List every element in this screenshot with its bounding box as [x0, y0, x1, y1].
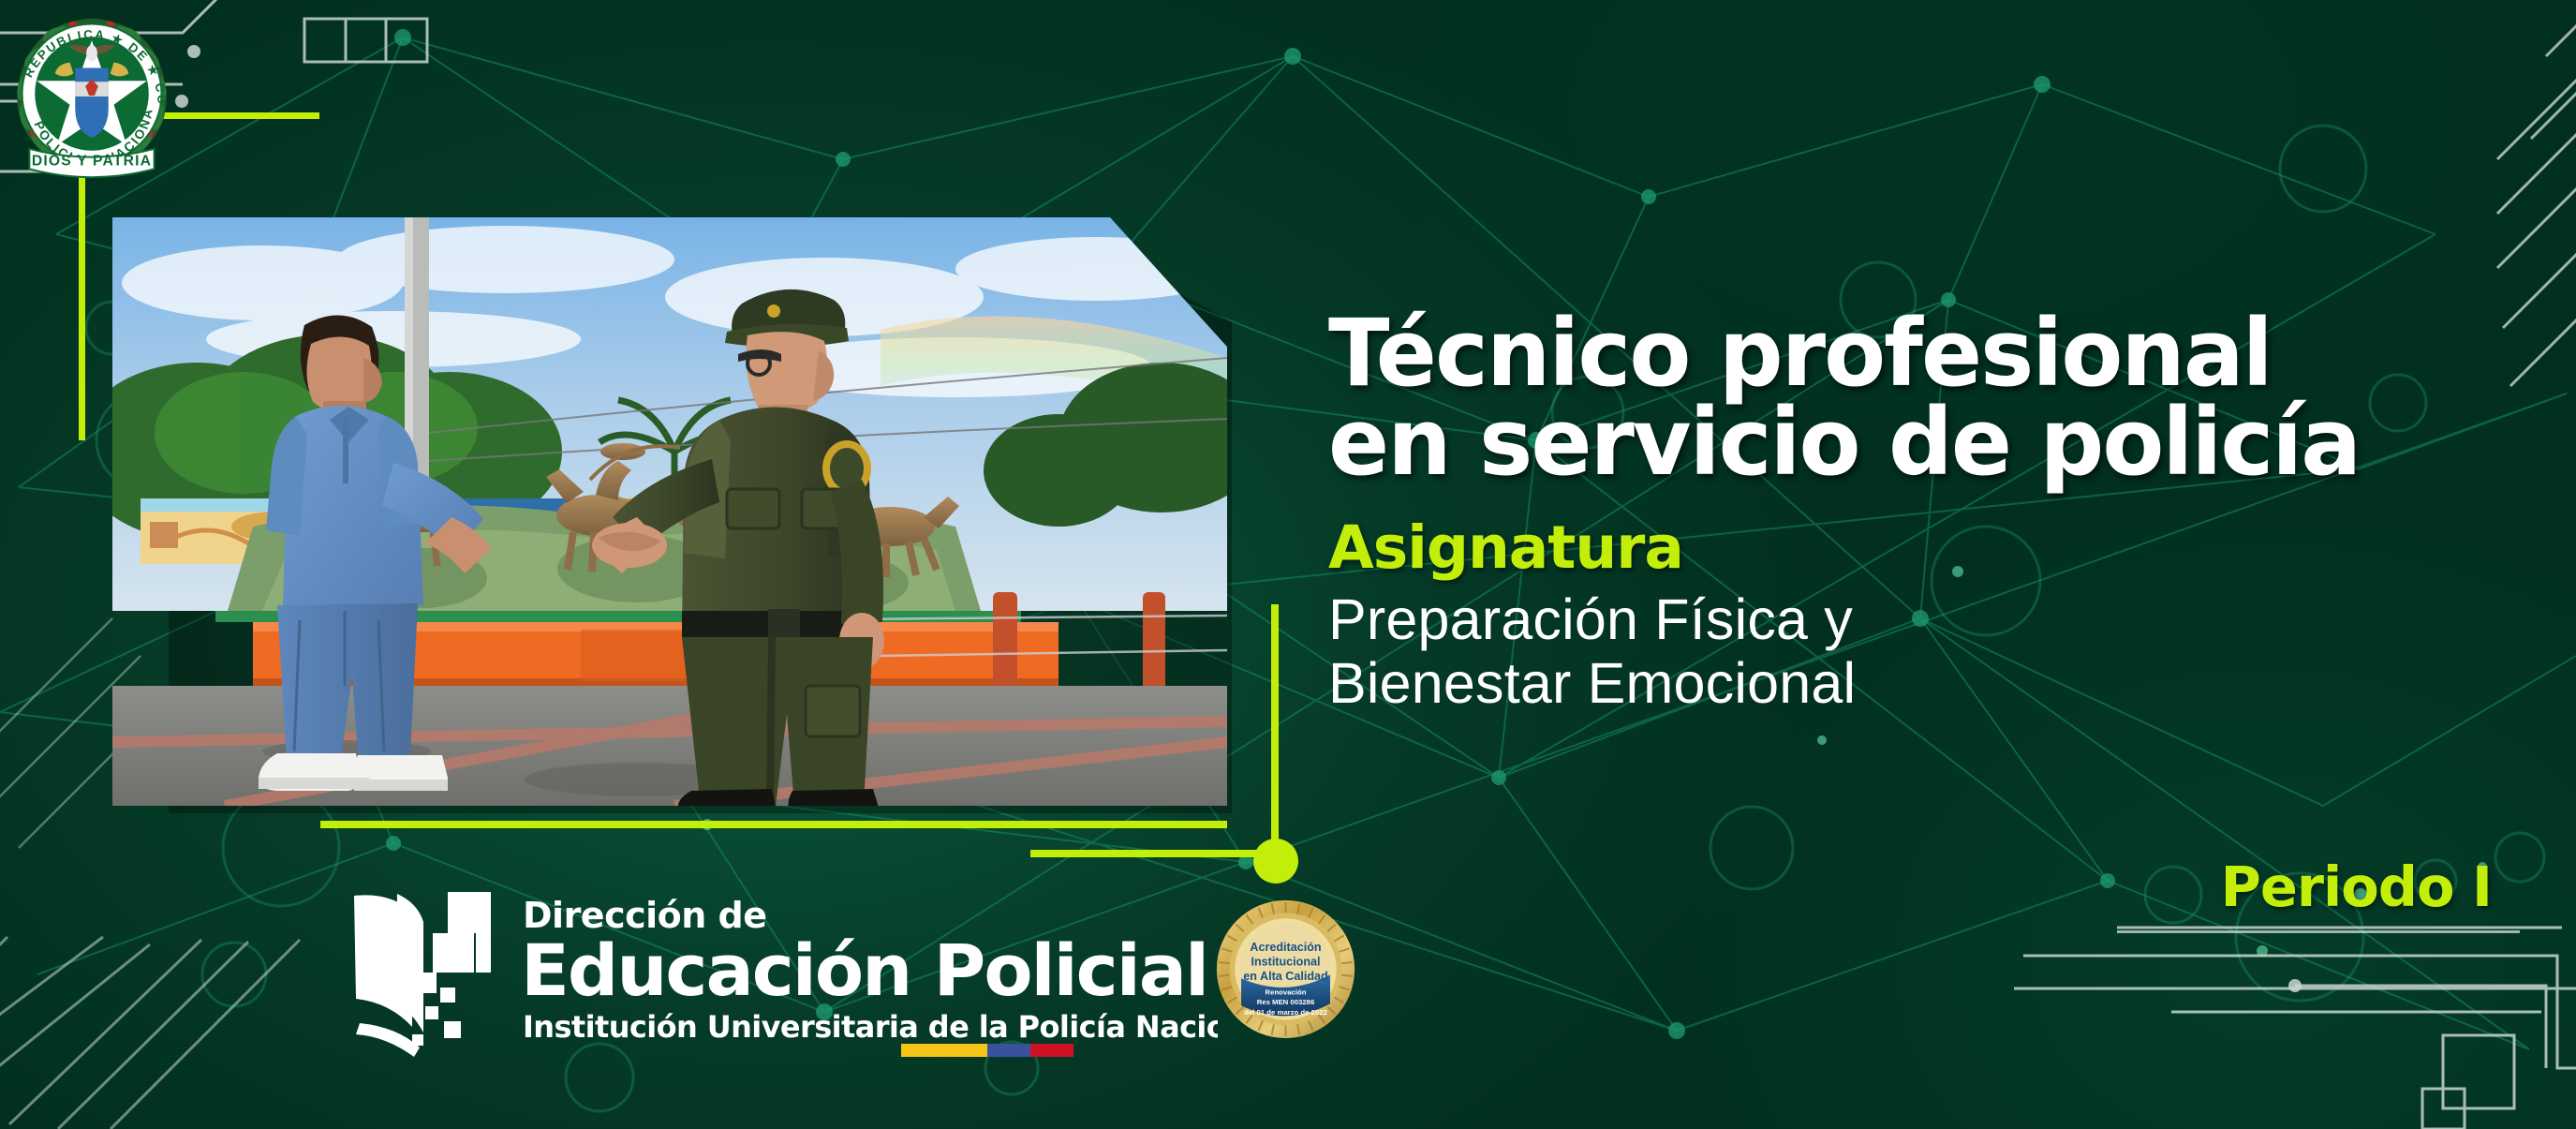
seal-line2: Institucional — [1251, 956, 1320, 969]
hero-photo — [112, 217, 1227, 806]
subject-name: Preparación Física y Bienestar Emocional — [1328, 587, 2471, 716]
police-shield-svg: REPUBLICA ★ DE ★ COLOMBIA POLICIA ★ NACI… — [0, 2, 184, 186]
program-title-line2: en servicio de policía — [1328, 398, 2436, 487]
program-title-line1: Técnico profesional — [1328, 309, 2436, 398]
svg-text:DIOS Y PATRIA: DIOS Y PATRIA — [32, 153, 152, 169]
accreditation-seal: Acreditación Institucional en Alta Calid… — [1213, 895, 1358, 1045]
education-line3: Institución Universitaria de la Policía … — [523, 1009, 1218, 1045]
text-block: Técnico profesional en servicio de polic… — [1328, 309, 2471, 716]
police-shield-logo: REPUBLICA ★ DE ★ COLOMBIA POLICIA ★ NACI… — [0, 2, 184, 189]
education-logo-svg: Dirección de Educación Policial Instituc… — [347, 883, 1218, 1061]
lime-line-under-photo — [320, 821, 1227, 828]
subject-line1: Preparación Física y — [1328, 587, 2471, 651]
lime-line-vertical-connector — [1271, 604, 1279, 859]
seal-line1: Acreditación — [1250, 941, 1321, 954]
education-logo: Dirección de Educación Policial Instituc… — [347, 883, 1218, 1061]
subject-label: Asignatura — [1328, 513, 2471, 582]
subject-line2: Bienestar Emocional — [1328, 651, 2471, 715]
lime-line-connector — [1030, 850, 1283, 857]
course-banner: Técnico profesional en servicio de polic… — [0, 0, 2576, 1129]
accreditation-seal-svg: Acreditación Institucional en Alta Calid… — [1213, 895, 1358, 1045]
period-rule — [2117, 930, 2520, 933]
seal-sub2: Res MEN 003286 — [1257, 998, 1315, 1006]
lime-node-connector — [1253, 839, 1298, 884]
period-label: Periodo I — [2221, 854, 2492, 919]
program-title: Técnico profesional en servicio de polic… — [1328, 309, 2436, 487]
education-line2: Educación Policial — [521, 928, 1207, 1012]
seal-sub3: del 01 de marzo de 2022 — [1244, 1008, 1327, 1017]
photo-illustration — [112, 217, 1227, 806]
seal-sub1: Renovación — [1266, 988, 1307, 997]
seal-line3: en Alta Calidad — [1243, 970, 1327, 983]
